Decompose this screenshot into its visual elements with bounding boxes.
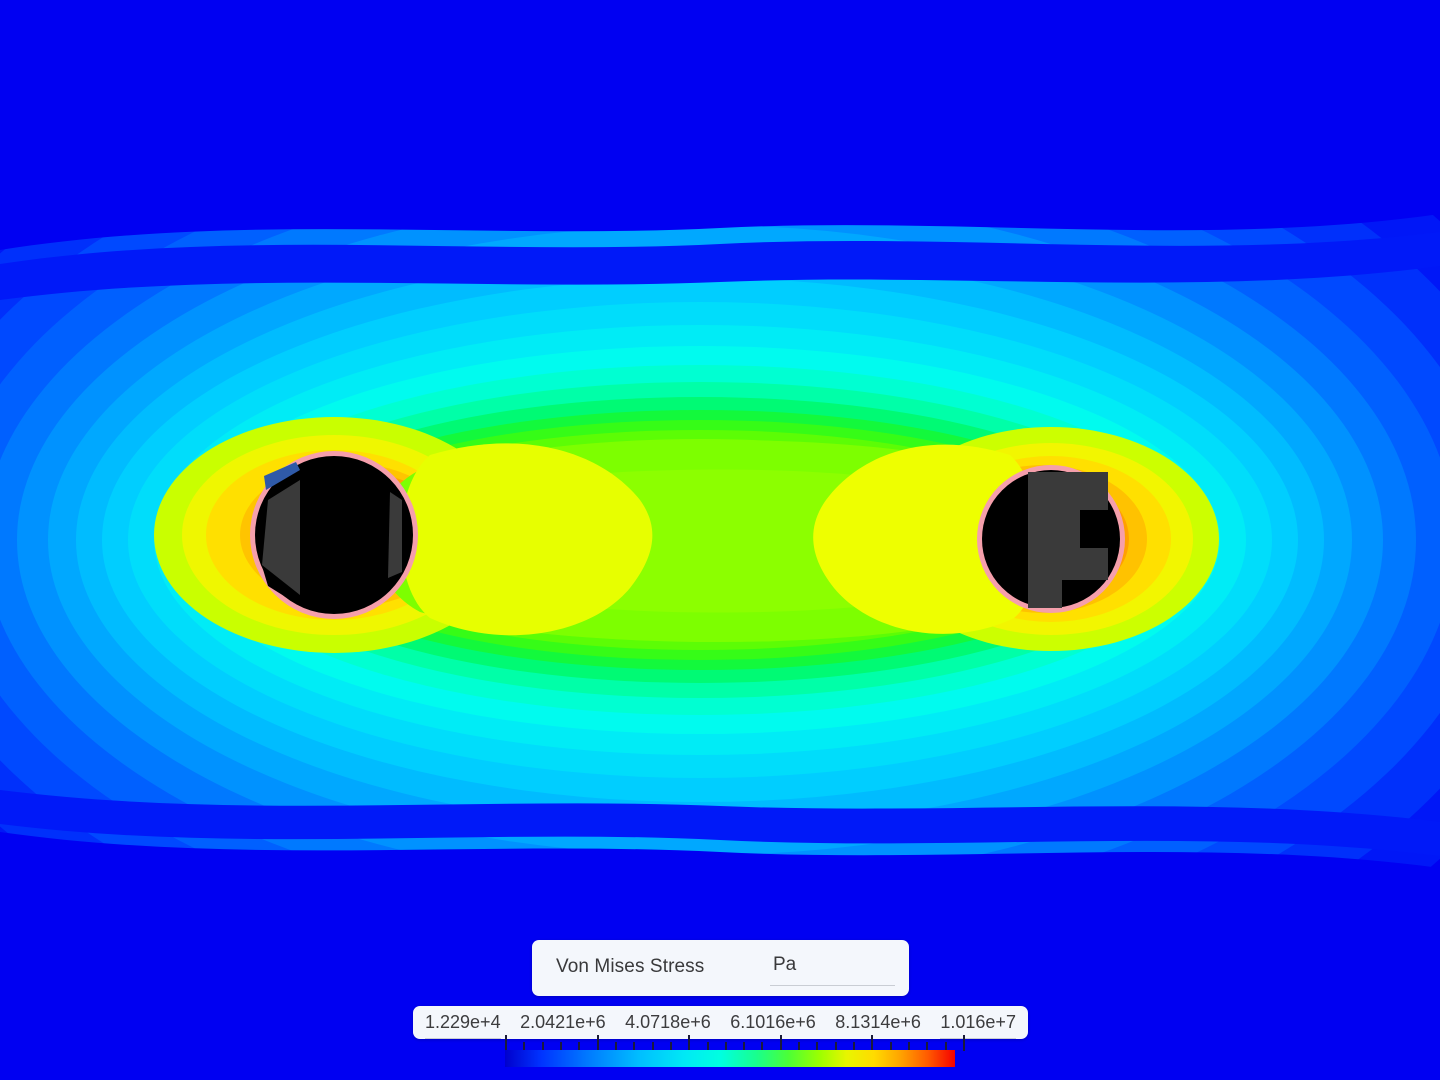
legend-unit-underline [770, 985, 895, 986]
cylinder-left-group [250, 451, 418, 619]
legend-tick-labels-box[interactable]: 1.229e+4 2.0421e+6 4.0718e+6 6.1016e+6 8… [413, 1006, 1028, 1039]
cylinder-right-shade-c [1062, 548, 1108, 580]
cylinder-right-shade-b [1062, 472, 1108, 510]
cylinder-right-group [977, 465, 1125, 613]
colorbar-tick-label-4: 6.1016e+6 [730, 1013, 816, 1031]
contour-bands-group [0, 0, 1440, 1080]
colorbar-tick-label-5: 8.1314e+6 [835, 1013, 921, 1031]
colorbar-tick-label-6: 1.016e+7 [940, 1013, 1016, 1031]
legend-unit: Pa [770, 954, 899, 976]
legend-unit-field[interactable]: Pa [770, 954, 899, 986]
colorbar[interactable] [505, 1050, 955, 1067]
contour-wave-top-deep [0, 0, 1440, 250]
legend-title: Von Mises Stress [556, 956, 704, 978]
legend-tick-labels-row: 1.229e+4 2.0421e+6 4.0718e+6 6.1016e+6 8… [413, 1006, 1028, 1039]
cylinder-right-shade-d [1062, 510, 1080, 548]
contour-field [0, 0, 1440, 1080]
cylinder-right-shade-a [1028, 472, 1062, 608]
cylinder-left-shade-c [388, 492, 402, 578]
colorbar-tick-label-3: 4.0718e+6 [625, 1013, 711, 1031]
colorbar-tick-label-2: 2.0421e+6 [520, 1013, 606, 1031]
colorbar-tick-label-1: 1.229e+4 [425, 1013, 501, 1031]
legend-title-box[interactable]: Von Mises Stress Pa [532, 940, 909, 996]
visualization-viewport: Von Mises Stress Pa 1.229e+4 2.0421e+6 4… [0, 0, 1440, 1080]
colorbar-gradient [505, 1050, 955, 1067]
